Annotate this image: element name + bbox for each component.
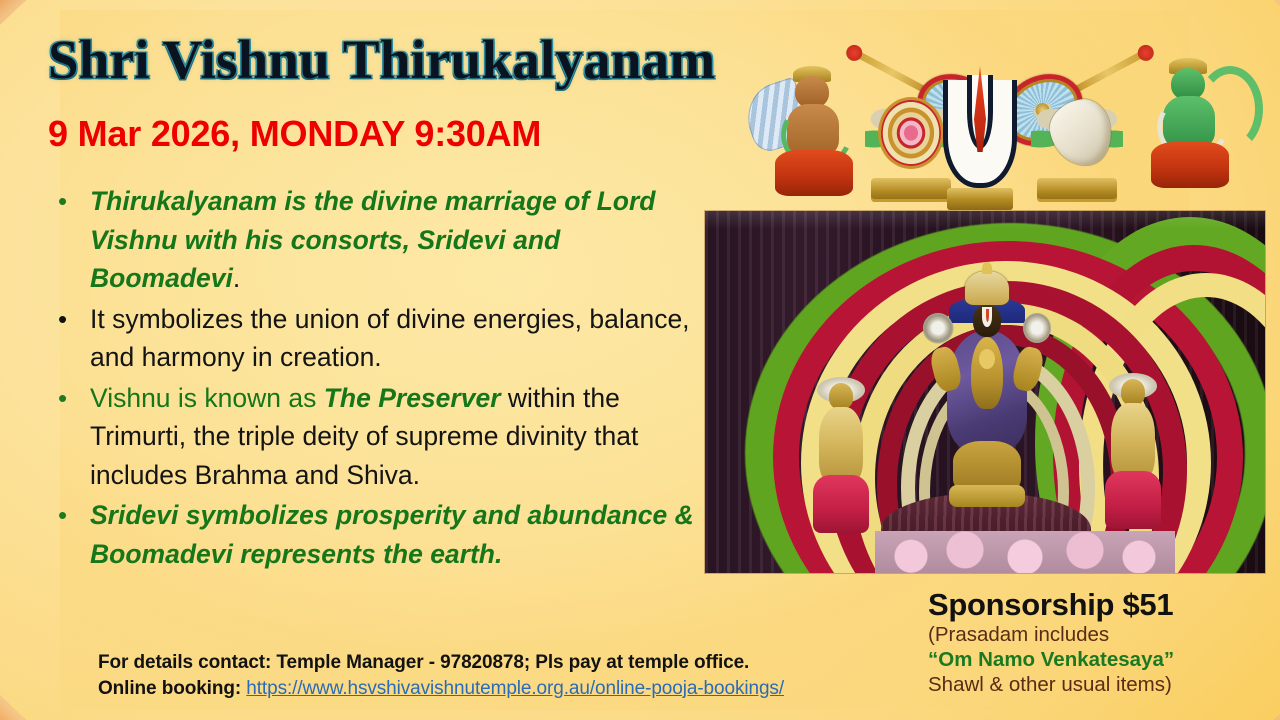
footer-booking-line: Online booking: https://www.hsvshivavish… bbox=[98, 676, 938, 702]
sponsorship-block: Sponsorship $51 (Prasadam includes “Om N… bbox=[928, 588, 1268, 697]
bullet-marker-icon: • bbox=[50, 182, 90, 220]
sponsorship-title: Sponsorship $51 bbox=[928, 588, 1268, 622]
deity-namam-icon bbox=[982, 307, 992, 327]
sponsorship-prasadam-line: (Prasadam includes bbox=[928, 622, 1268, 647]
list-item: • It symbolizes the union of divine ener… bbox=[50, 300, 710, 377]
bullet-2-segment-1: It symbolizes the union of divine energi… bbox=[90, 304, 690, 373]
consort-saree bbox=[813, 475, 869, 533]
list-item: • Sridevi symbolizes prosperity and abun… bbox=[50, 496, 710, 573]
consort-saree bbox=[1105, 471, 1161, 529]
poster-canvas: Shri Vishnu Thirukalyanam 9 Mar 2026, MO… bbox=[0, 0, 1280, 720]
deity-photograph bbox=[705, 211, 1265, 573]
bullet-1-segment-2: . bbox=[233, 263, 240, 293]
pedestal-base bbox=[871, 178, 951, 202]
photo-top-highlight bbox=[705, 211, 1265, 229]
consort-body bbox=[1111, 403, 1155, 481]
figure-lower-garment bbox=[1151, 142, 1229, 188]
consort-head bbox=[829, 383, 853, 409]
bullet-3-segment-1: Vishnu is known as bbox=[90, 383, 324, 413]
list-item-text: Sridevi symbolizes prosperity and abunda… bbox=[90, 496, 710, 573]
online-booking-link[interactable]: https://www.hsvshivavishnutemple.org.au/… bbox=[246, 678, 784, 699]
namam-base bbox=[947, 188, 1013, 210]
list-item: • Vishnu is known as The Preserver withi… bbox=[50, 379, 710, 495]
pedestal-base bbox=[1037, 178, 1117, 202]
consort-head bbox=[1121, 379, 1145, 405]
flower-offering-row bbox=[875, 531, 1175, 573]
description-bullet-list: • Thirukalyanam is the divine marriage o… bbox=[50, 182, 710, 575]
lord-venkateswara-figure bbox=[927, 271, 1047, 521]
list-item: • Thirukalyanam is the divine marriage o… bbox=[50, 182, 710, 298]
consort-sridevi-figure bbox=[813, 383, 869, 533]
footer-contact-line: For details contact: Temple Manager - 97… bbox=[98, 650, 938, 676]
list-item-text: Thirukalyanam is the divine marriage of … bbox=[90, 182, 710, 298]
garuda-figure-icon bbox=[765, 70, 861, 198]
deity-pedestal bbox=[949, 485, 1025, 507]
list-item-text: Vishnu is known as The Preserver within … bbox=[90, 379, 710, 495]
deity-discus-icon bbox=[923, 313, 953, 343]
sponsorship-items-line: Shawl & other usual items) bbox=[928, 672, 1268, 697]
staff-tassel bbox=[1135, 42, 1157, 64]
hanuman-figure-icon bbox=[1141, 62, 1237, 190]
bullet-4-segment-1: Sridevi symbolizes prosperity and abunda… bbox=[90, 500, 694, 569]
bullet-marker-icon: • bbox=[50, 300, 90, 338]
discus-emblem-icon bbox=[881, 100, 941, 166]
deity-conch-icon bbox=[1023, 313, 1051, 343]
header-artwork bbox=[745, 0, 1280, 205]
conch-pedestal-icon bbox=[1031, 92, 1123, 202]
vaishnava-namam-icon bbox=[943, 80, 1017, 188]
bullet-marker-icon: • bbox=[50, 496, 90, 534]
page-title: Shri Vishnu Thirukalyanam bbox=[48, 28, 715, 91]
figure-lower-garment bbox=[775, 150, 853, 196]
deity-chest-ornament bbox=[971, 337, 1003, 409]
consort-body bbox=[819, 407, 863, 485]
bullet-3-segment-2: The Preserver bbox=[324, 383, 501, 413]
deity-crown bbox=[965, 271, 1009, 305]
footer-contact-block: For details contact: Temple Manager - 97… bbox=[98, 650, 938, 702]
consort-boomadevi-figure bbox=[1105, 379, 1161, 529]
sponsorship-mantra: “Om Namo Venkatesaya” bbox=[928, 647, 1268, 672]
bullet-1-segment-1: Thirukalyanam is the divine marriage of … bbox=[90, 186, 655, 293]
bullet-marker-icon: • bbox=[50, 379, 90, 417]
list-item-text: It symbolizes the union of divine energi… bbox=[90, 300, 710, 377]
event-datetime: 9 Mar 2026, MONDAY 9:30AM bbox=[48, 113, 541, 155]
booking-label: Online booking: bbox=[98, 678, 246, 699]
